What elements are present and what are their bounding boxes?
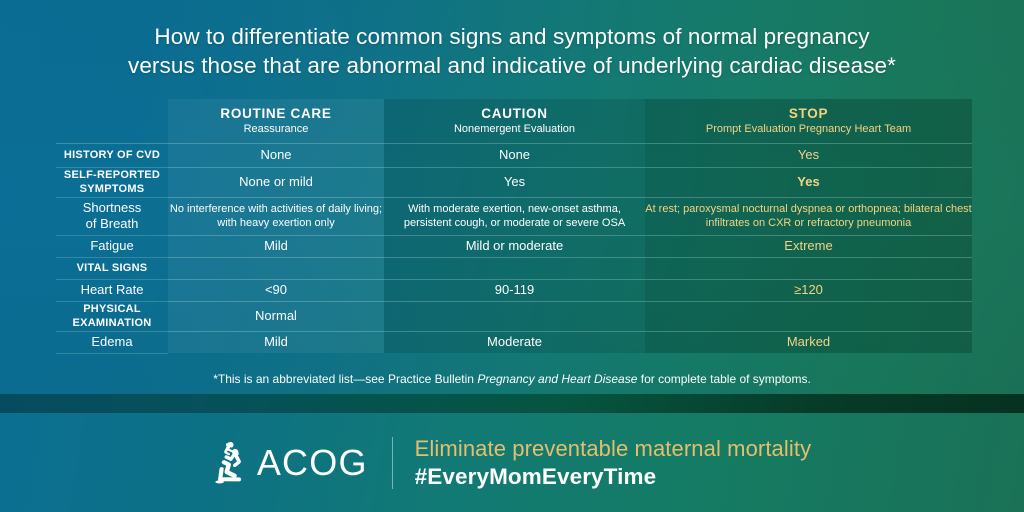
- cell-caution-shortness-of-breath: With moderate exertion, new-onset asthma…: [384, 197, 645, 235]
- table-row: Edema Mild Moderate Marked: [56, 331, 972, 353]
- row-label-line-1: PHYSICAL: [83, 303, 141, 315]
- cell-stop-physical-examination: [645, 301, 972, 331]
- row-label-heart-rate: Heart Rate: [56, 279, 168, 301]
- row-label-line-2: SYMPTOMS: [80, 183, 145, 195]
- cell-caution-self-reported-symptoms: Yes: [384, 167, 645, 197]
- row-label-line-1: Shortness: [83, 200, 142, 215]
- footer-bar: ACOG Eliminate preventable maternal mort…: [0, 413, 1024, 512]
- header-title-caution: CAUTION: [384, 106, 645, 121]
- cell-routine-heart-rate: <90: [168, 279, 384, 301]
- row-label-line-2: EXAMINATION: [73, 317, 152, 329]
- row-label-self-reported-symptoms: SELF-REPORTED SYMPTOMS: [56, 167, 168, 197]
- tagline-line-1: Eliminate preventable maternal mortality: [415, 435, 812, 463]
- footnote-prefix: *This is an abbreviated list—see Practic…: [213, 372, 477, 386]
- cell-caution-heart-rate: 90-119: [384, 279, 645, 301]
- symptoms-table: ROUTINE CARE Reassurance CAUTION Nonemer…: [56, 99, 972, 354]
- acog-brand-text: ACOG: [257, 445, 368, 481]
- row-label-fatigue: Fatigue: [56, 235, 168, 257]
- table-row: Heart Rate <90 90-119 ≥120: [56, 279, 972, 301]
- cell-routine-self-reported-symptoms: None or mild: [168, 167, 384, 197]
- table-row: Shortness of Breath No interference with…: [56, 197, 972, 235]
- header-subtitle-caution: Nonemergent Evaluation: [384, 123, 645, 135]
- page-title-line-1: How to differentiate common signs and sy…: [0, 22, 1024, 51]
- cell-caution-edema: Moderate: [384, 331, 645, 353]
- table-row: Fatigue Mild Mild or moderate Extreme: [56, 235, 972, 257]
- header-cell-caution: CAUTION Nonemergent Evaluation: [384, 99, 645, 143]
- row-label-line-2: of Breath: [86, 216, 139, 231]
- row-label-edema: Edema: [56, 331, 168, 353]
- cell-caution-fatigue: Mild or moderate: [384, 235, 645, 257]
- acog-logo-group[interactable]: ACOG: [213, 440, 368, 486]
- table-row: VITAL SIGNS: [56, 257, 972, 279]
- cell-stop-self-reported-symptoms: Yes: [645, 167, 972, 197]
- divider-band: [0, 394, 1024, 413]
- row-label-line-1: SELF-REPORTED: [64, 169, 160, 181]
- header-subtitle-routine-care: Reassurance: [168, 123, 384, 135]
- cell-stop-fatigue: Extreme: [645, 235, 972, 257]
- header-title-stop: STOP: [645, 106, 972, 121]
- header-cell-stop: STOP Prompt Evaluation Pregnancy Heart T…: [645, 99, 972, 143]
- cell-routine-physical-examination: Normal: [168, 301, 384, 331]
- infographic-root: How to differentiate common signs and sy…: [0, 0, 1024, 512]
- cell-stop-heart-rate: ≥120: [645, 279, 972, 301]
- row-label-shortness-of-breath: Shortness of Breath: [56, 197, 168, 235]
- cell-routine-fatigue: Mild: [168, 235, 384, 257]
- tagline-hashtag: #EveryMomEveryTime: [415, 463, 812, 491]
- table-header-row: ROUTINE CARE Reassurance CAUTION Nonemer…: [56, 99, 972, 143]
- cell-stop-edema: Marked: [645, 331, 972, 353]
- cell-caution-physical-examination: [384, 301, 645, 331]
- page-title: How to differentiate common signs and sy…: [0, 22, 1024, 80]
- footnote-italic-title: Pregnancy and Heart Disease: [477, 372, 637, 386]
- header-subtitle-stop: Prompt Evaluation Pregnancy Heart Team: [645, 123, 972, 135]
- cell-stop-shortness-of-breath: At rest; paroxysmal nocturnal dyspnea or…: [645, 197, 972, 235]
- header-cell-blank: [56, 99, 168, 143]
- row-label-history-of-cvd: HISTORY OF CVD: [56, 143, 168, 167]
- page-title-line-2: versus those that are abnormal and indic…: [0, 51, 1024, 80]
- table-row: SELF-REPORTED SYMPTOMS None or mild Yes …: [56, 167, 972, 197]
- cell-stop-vital-signs: [645, 257, 972, 279]
- header-title-routine-care: ROUTINE CARE: [168, 106, 384, 121]
- table-row: HISTORY OF CVD None None Yes: [56, 143, 972, 167]
- cell-caution-vital-signs: [384, 257, 645, 279]
- acog-logo-icon: [213, 440, 249, 486]
- cell-caution-history-of-cvd: None: [384, 143, 645, 167]
- cell-stop-history-of-cvd: Yes: [645, 143, 972, 167]
- row-label-physical-examination: PHYSICAL EXAMINATION: [56, 301, 168, 331]
- footnote-suffix: for complete table of symptoms.: [637, 372, 810, 386]
- cell-routine-edema: Mild: [168, 331, 384, 353]
- header-cell-routine-care: ROUTINE CARE Reassurance: [168, 99, 384, 143]
- footnote: *This is an abbreviated list—see Practic…: [0, 371, 1024, 387]
- footer-vertical-divider: [392, 437, 393, 489]
- table-row: PHYSICAL EXAMINATION Normal: [56, 301, 972, 331]
- row-label-vital-signs: VITAL SIGNS: [56, 257, 168, 279]
- footer-tagline: Eliminate preventable maternal mortality…: [415, 435, 812, 491]
- cell-routine-vital-signs: [168, 257, 384, 279]
- cell-routine-history-of-cvd: None: [168, 143, 384, 167]
- cell-routine-shortness-of-breath: No interference with activities of daily…: [168, 197, 384, 235]
